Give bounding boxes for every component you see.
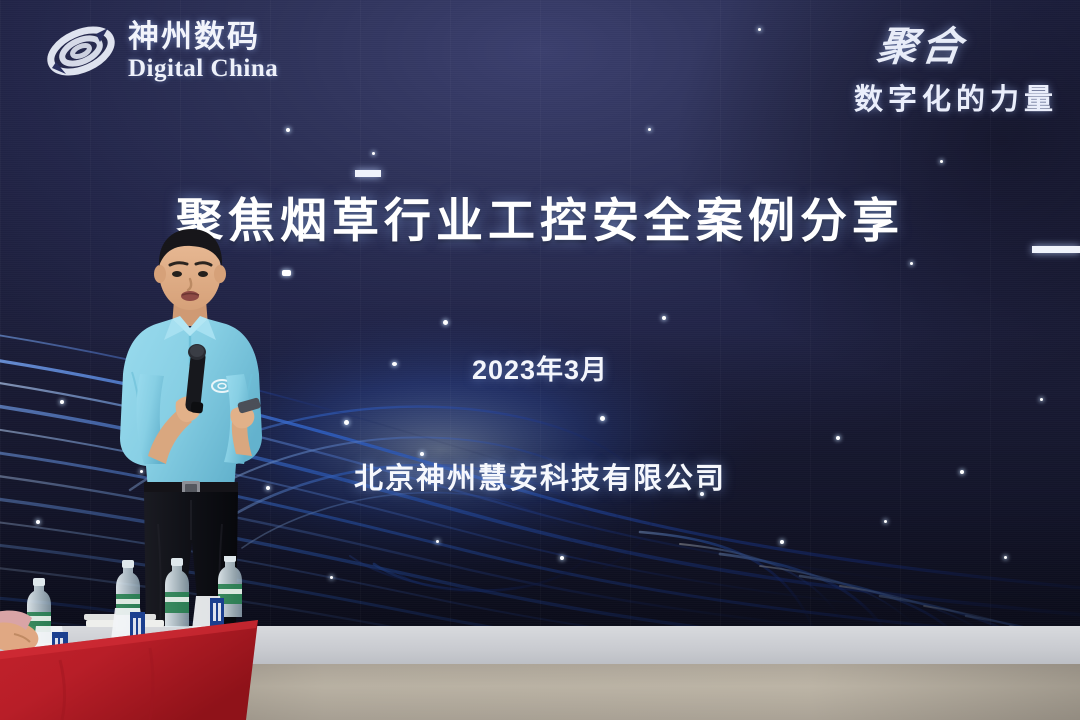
event-tagline: 聚合 数字化的力量 (854, 14, 1058, 118)
brand-name-en: Digital China (128, 56, 278, 81)
tagline-subline: 数字化的力量 (854, 76, 1058, 118)
accent-dash-left (355, 170, 381, 177)
conference-photo: 神州数码 Digital China 聚合 数字化的力量 聚焦烟草行业工控安全案… (0, 0, 1080, 720)
water-bottle (165, 558, 189, 627)
digital-china-spiral-icon (44, 18, 118, 84)
brand-logo: 神州数码 Digital China (44, 18, 278, 84)
brand-name-cn: 神州数码 (128, 21, 278, 52)
tagline-headline: 聚合 (850, 14, 969, 72)
foreground-table (0, 556, 300, 720)
